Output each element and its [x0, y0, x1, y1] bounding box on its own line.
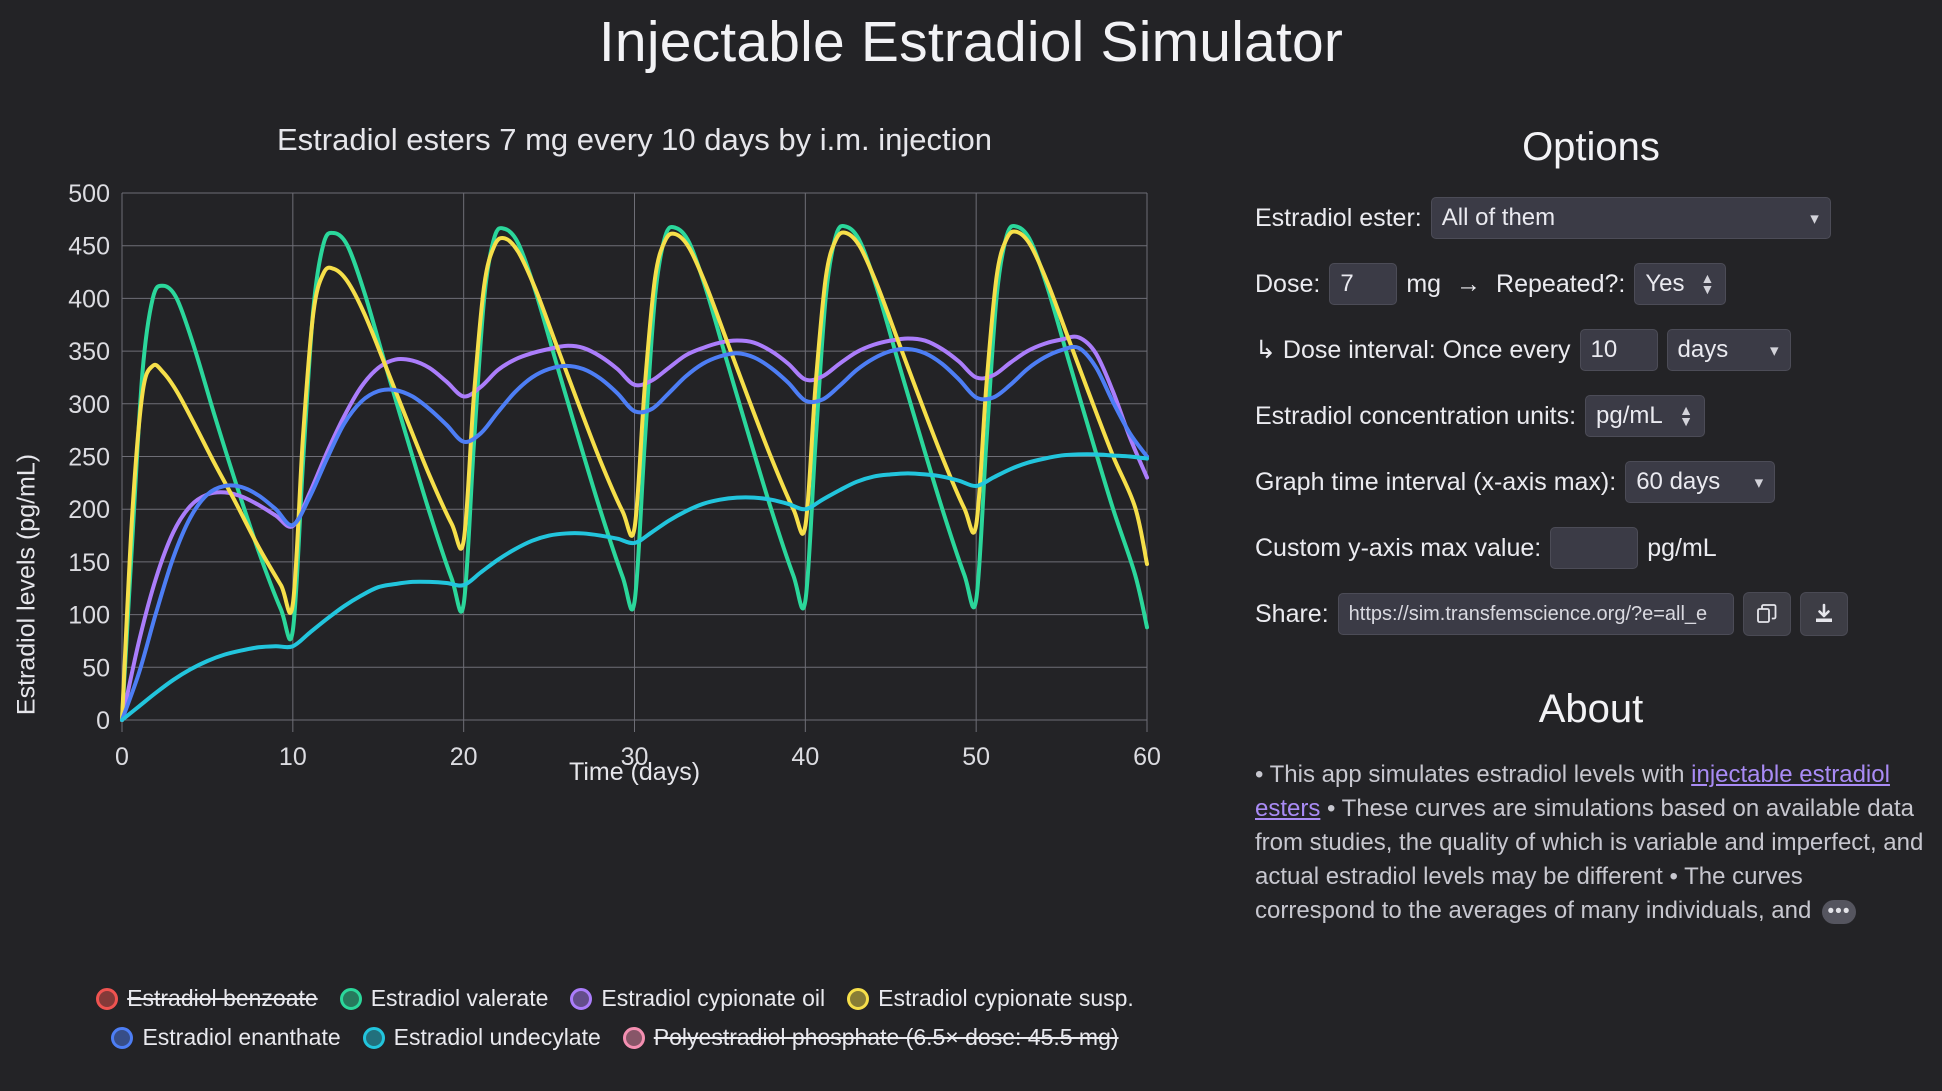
ymax-input[interactable] [1550, 527, 1638, 569]
dose-unit: mg [1406, 270, 1441, 299]
option-row-share: Share: [1255, 592, 1927, 636]
legend-item[interactable]: Estradiol enanthate [111, 1024, 340, 1051]
download-icon [1812, 602, 1836, 626]
y-tick-label: 400 [68, 285, 110, 313]
legend-color-dot [340, 988, 362, 1010]
y-tick-label: 500 [68, 180, 110, 208]
download-button[interactable] [1800, 592, 1848, 636]
y-tick-label: 0 [96, 707, 110, 735]
interval-input[interactable] [1580, 329, 1658, 371]
interval-unit-select-wrap[interactable]: days ▾ [1667, 329, 1791, 371]
about-heading: About [1255, 682, 1927, 736]
app-root: Injectable Estradiol Simulator Estradiol… [0, 0, 1942, 1091]
interval-label: ↳ Dose interval: Once every [1255, 335, 1571, 365]
legend-item-label: Estradiol cypionate susp. [878, 985, 1134, 1012]
graph-interval-select-wrap[interactable]: 60 days ▾ [1625, 461, 1775, 503]
option-row-graph-interval: Graph time interval (x-axis max): 60 day… [1255, 460, 1927, 504]
y-tick-label: 50 [82, 654, 110, 682]
options-heading: Options [1255, 120, 1927, 174]
units-select[interactable]: pg/mL [1585, 395, 1705, 437]
ymax-unit: pg/mL [1647, 534, 1716, 563]
legend-item[interactable]: Polyestradiol phosphate (6.5× dose: 45.5… [623, 1024, 1119, 1051]
option-row-ester: Estradiol ester: All of them ▾ [1255, 196, 1927, 240]
y-tick-label: 300 [68, 391, 110, 419]
legend-color-dot [623, 1027, 645, 1049]
legend-item[interactable]: Estradiol undecylate [363, 1024, 601, 1051]
dose-label: Dose: [1255, 270, 1320, 299]
copy-button[interactable] [1743, 592, 1791, 636]
y-tick-label: 250 [68, 444, 110, 472]
graph-interval-label: Graph time interval (x-axis max): [1255, 468, 1616, 497]
repeated-select[interactable]: Yes [1634, 263, 1726, 305]
legend-item[interactable]: Estradiol benzoate [96, 985, 318, 1012]
legend-item-label: Estradiol enanthate [142, 1024, 340, 1051]
ester-select[interactable]: All of them [1431, 197, 1831, 239]
plot-area: 0501001502002503003504004505000102030405… [0, 120, 1230, 920]
interval-unit-select[interactable]: days [1667, 329, 1791, 371]
ymax-label: Custom y-axis max value: [1255, 534, 1541, 563]
legend-color-dot [570, 988, 592, 1010]
units-select-wrap[interactable]: pg/mL ▲▼ [1585, 395, 1705, 437]
chart-svg: 0501001502002503003504004505000102030405… [0, 120, 1230, 920]
legend-item-label: Estradiol cypionate oil [601, 985, 825, 1012]
legend-color-dot [847, 988, 869, 1010]
y-tick-label: 450 [68, 233, 110, 261]
legend-item[interactable]: Estradiol valerate [340, 985, 549, 1012]
option-row-ymax: Custom y-axis max value: pg/mL [1255, 526, 1927, 570]
dose-input[interactable] [1329, 263, 1397, 305]
y-tick-label: 100 [68, 602, 110, 630]
legend-color-dot [96, 988, 118, 1010]
options-sidebar: Options Estradiol ester: All of them ▾ D… [1255, 120, 1927, 928]
option-row-dose: Dose: mg → Repeated?: Yes ▲▼ [1255, 262, 1927, 306]
about-text: • This app simulates estradiol levels wi… [1255, 758, 1927, 928]
ester-select-wrap[interactable]: All of them ▾ [1431, 197, 1831, 239]
chart-panel: Estradiol esters 7 mg every 10 days by i… [0, 120, 1230, 1080]
option-row-interval: ↳ Dose interval: Once every days ▾ [1255, 328, 1927, 372]
x-axis-label: Time (days) [122, 758, 1147, 787]
graph-interval-select[interactable]: 60 days [1625, 461, 1775, 503]
legend-item-label: Polyestradiol phosphate (6.5× dose: 45.5… [654, 1024, 1119, 1051]
legend-color-dot [363, 1027, 385, 1049]
legend-color-dot [111, 1027, 133, 1049]
legend-item[interactable]: Estradiol cypionate susp. [847, 985, 1134, 1012]
ester-label: Estradiol ester: [1255, 204, 1422, 233]
copy-icon [1755, 602, 1779, 626]
legend-item-label: Estradiol undecylate [394, 1024, 601, 1051]
repeated-select-wrap[interactable]: Yes ▲▼ [1634, 263, 1726, 305]
units-label: Estradiol concentration units: [1255, 402, 1576, 431]
arrow-icon: → [1450, 270, 1487, 299]
share-label: Share: [1255, 600, 1329, 629]
about-text-part-1: • This app simulates estradiol levels wi… [1255, 761, 1691, 788]
option-row-units: Estradiol concentration units: pg/mL ▲▼ [1255, 394, 1927, 438]
legend-item-label: Estradiol valerate [371, 985, 549, 1012]
legend-item-label: Estradiol benzoate [127, 985, 318, 1012]
repeated-label: Repeated?: [1496, 270, 1625, 299]
chart-legend: Estradiol benzoateEstradiol valerateEstr… [0, 985, 1230, 1063]
y-tick-label: 350 [68, 338, 110, 366]
about-section: About • This app simulates estradiol lev… [1255, 682, 1927, 928]
y-tick-label: 200 [68, 496, 110, 524]
legend-row: Estradiol enanthateEstradiol undecylateP… [0, 1024, 1230, 1051]
legend-item[interactable]: Estradiol cypionate oil [570, 985, 825, 1012]
legend-row: Estradiol benzoateEstradiol valerateEstr… [0, 985, 1230, 1012]
share-url-input[interactable] [1338, 593, 1734, 635]
page-title: Injectable Estradiol Simulator [0, 6, 1942, 78]
y-tick-label: 150 [68, 549, 110, 577]
show-more-button[interactable]: ••• [1822, 900, 1856, 924]
